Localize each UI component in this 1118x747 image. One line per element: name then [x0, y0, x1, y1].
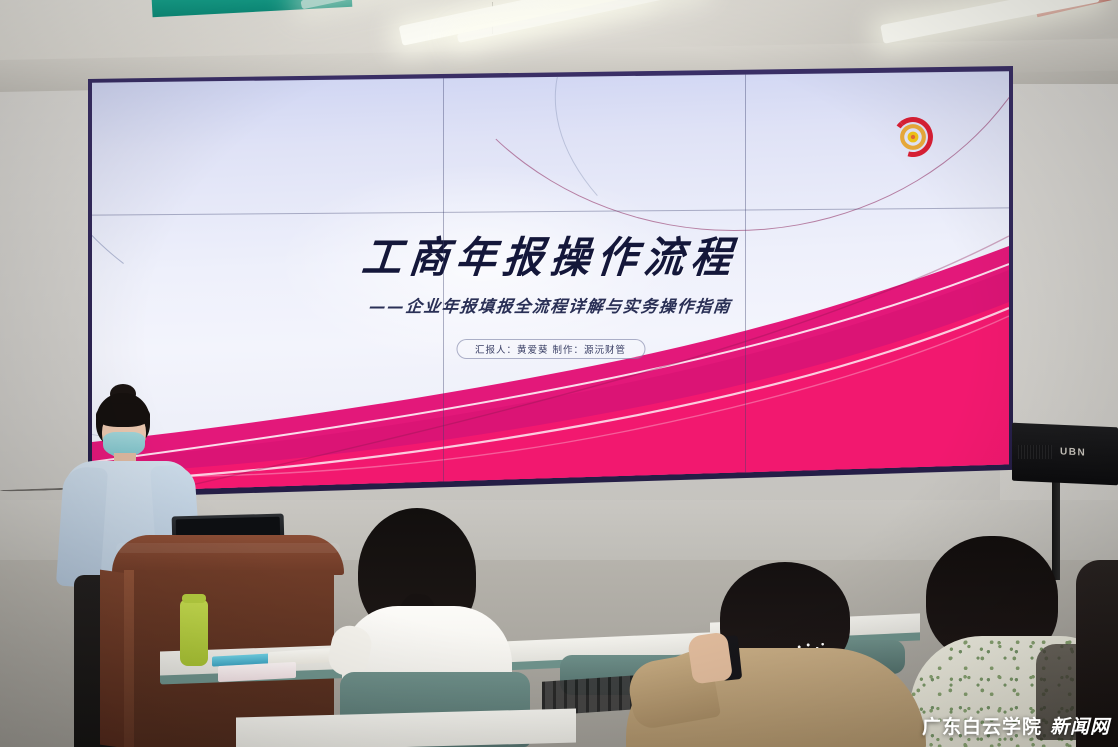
- water-bottle: [180, 600, 208, 666]
- podium-edge: [124, 570, 134, 747]
- hand: [687, 631, 733, 684]
- speaker-brand-label: UBN: [1060, 446, 1086, 458]
- bottle-cap: [182, 594, 206, 603]
- video-wall[interactable]: 工商年报操作流程 ——企业年报填报全流程详解与实务操作指南 汇报人：黄爱葵 制作…: [88, 66, 1013, 498]
- slide-title: 工商年报操作流程: [92, 223, 1009, 284]
- presentation-slide[interactable]: 工商年报操作流程 ——企业年报填报全流程详解与实务操作指南 汇报人：黄爱葵 制作…: [92, 70, 1009, 494]
- watermark: 广东白云学院新闻网: [922, 712, 1110, 739]
- watermark-org: 广东白云学院: [922, 716, 1042, 738]
- hair-fringe: [96, 403, 150, 427]
- speaker-grill: [1018, 445, 1052, 459]
- student-tan-jacket: [616, 562, 946, 747]
- classroom-photo: 工商年报操作流程 ——企业年报填报全流程详解与实务操作指南 汇报人：黄爱葵 制作…: [0, 0, 1118, 747]
- slide-byline: 汇报人：黄爱葵 制作：源沅财管: [456, 339, 645, 359]
- slide-subtitle: ——企业年报填报全流程详解与实务操作指南: [92, 293, 1009, 317]
- panel-seam-vertical: [443, 70, 444, 494]
- circular-ring-logo-icon: [892, 117, 934, 157]
- panel-seam-vertical: [745, 70, 746, 494]
- watermark-site: 新闻网: [1050, 716, 1110, 738]
- podium-top: [112, 535, 344, 575]
